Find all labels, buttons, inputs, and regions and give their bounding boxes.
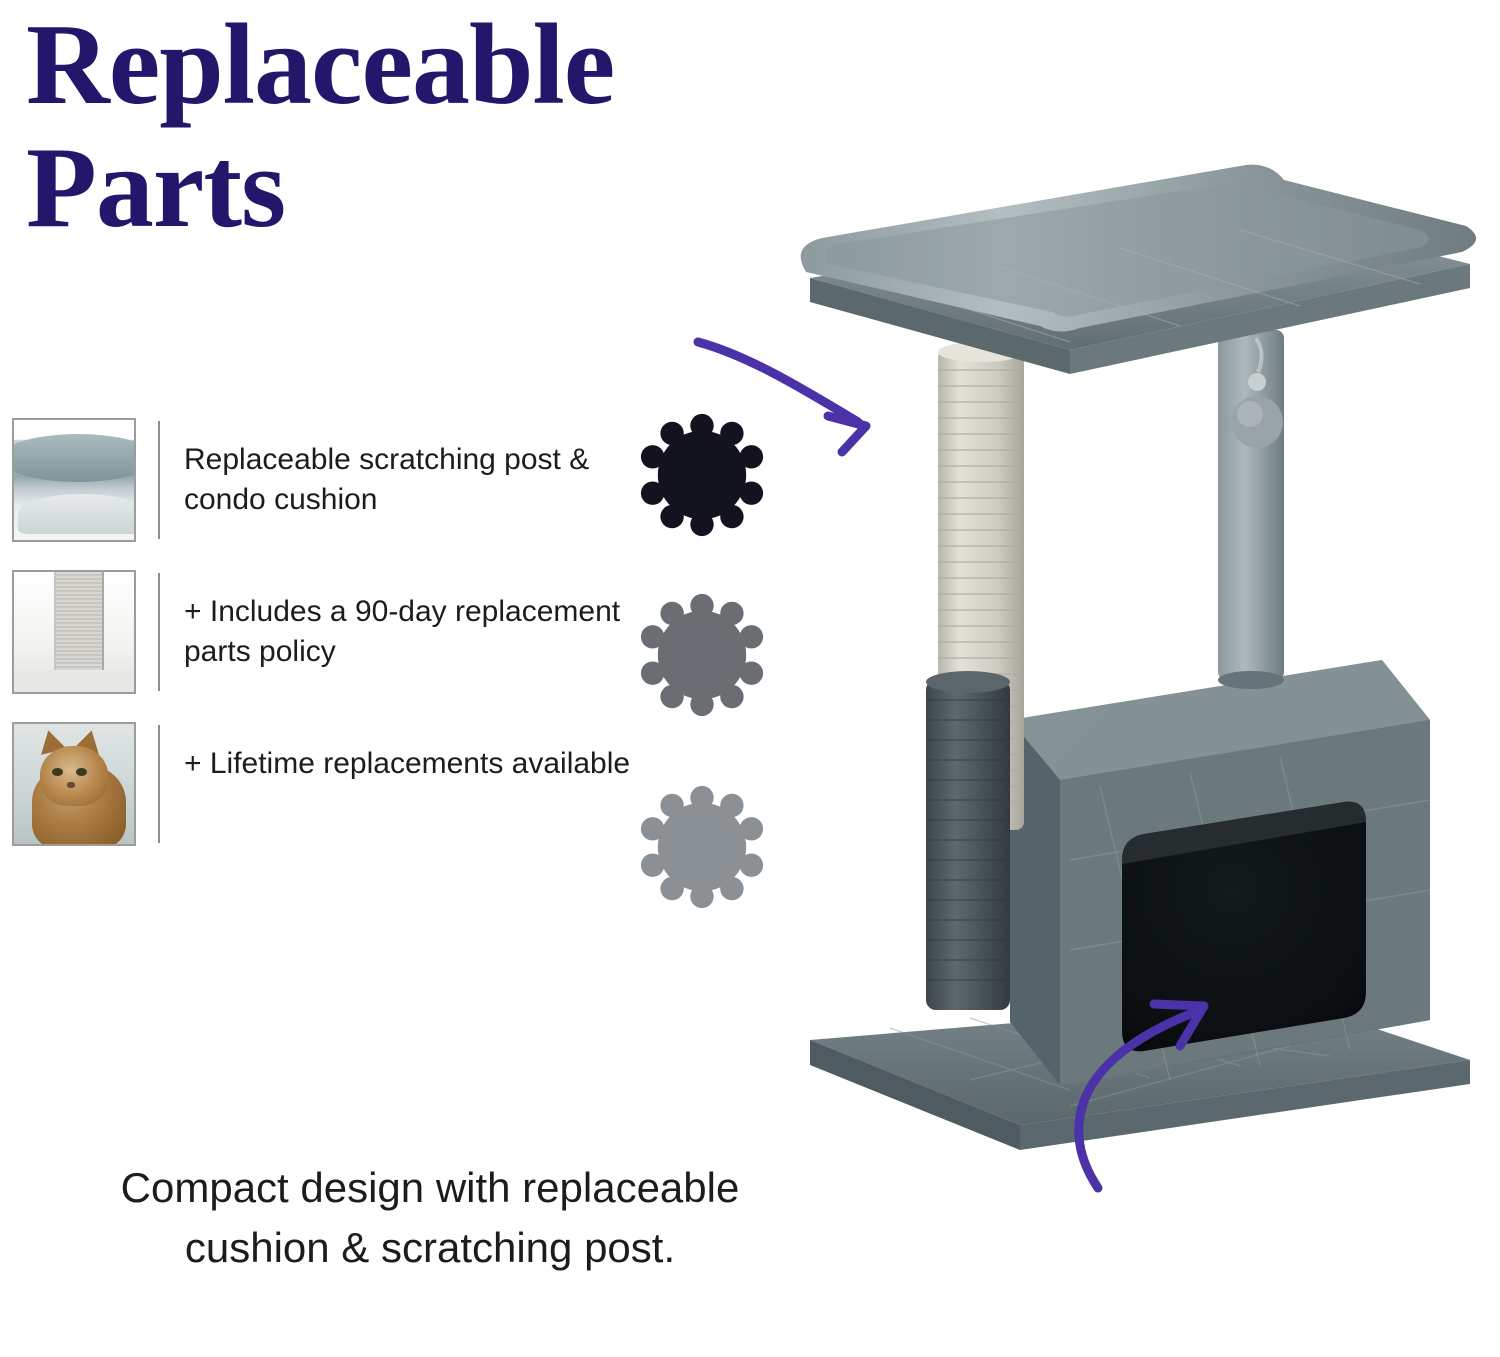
gear-badge-icon-3 xyxy=(637,782,767,912)
divider xyxy=(158,573,160,691)
feature-label: + Lifetime replacements available xyxy=(184,722,630,784)
bottom-caption: Compact design with replaceable cushion … xyxy=(120,1158,740,1277)
bristle-brush-post xyxy=(926,671,1010,1010)
feature-label: Replaceable scratching post & condo cush… xyxy=(184,418,634,520)
cat-head-shape xyxy=(40,746,108,806)
arrow-to-condo-icon xyxy=(1030,940,1230,1200)
cushion-thumbnail xyxy=(12,418,136,542)
cat-nose-shape xyxy=(67,782,75,788)
arrow-to-cushion-icon xyxy=(690,330,910,460)
gear-badge-icon-2 xyxy=(637,590,767,720)
feature-list: Replaceable scratching post & condo cush… xyxy=(12,418,652,874)
divider xyxy=(158,725,160,843)
list-item: Replaceable scratching post & condo cush… xyxy=(12,418,652,570)
scratching-post-thumbnail xyxy=(12,570,136,694)
list-item: + Includes a 90-day replacement parts po… xyxy=(12,570,652,722)
cat-eye-left-shape xyxy=(52,768,63,776)
feature-label: + Includes a 90-day replacement parts po… xyxy=(184,570,634,672)
page-title: Replaceable Parts xyxy=(26,4,816,250)
cat-photo-thumbnail xyxy=(12,722,136,846)
divider xyxy=(158,421,160,539)
cat-eye-right-shape xyxy=(76,768,87,776)
list-item: + Lifetime replacements available xyxy=(12,722,652,874)
